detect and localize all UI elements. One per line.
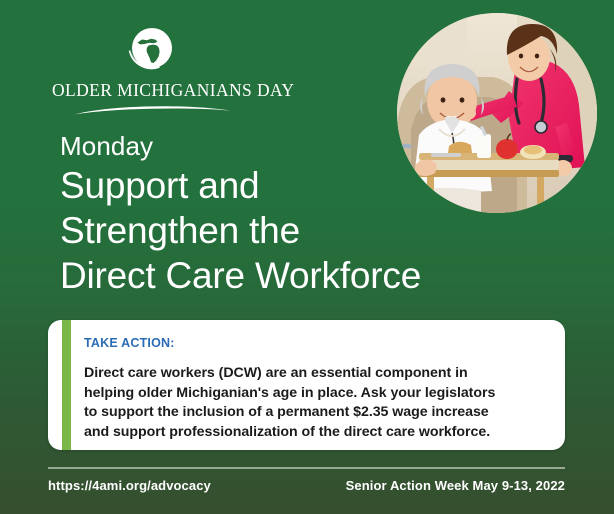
take-action-card: TAKE ACTION: Direct care workers (DCW) a… [48, 320, 565, 450]
footer-divider [48, 467, 565, 469]
michigan-globe-icon [124, 22, 180, 78]
headline-block: Monday Support and Strengthen the Direct… [60, 132, 500, 298]
event-dates: Senior Action Week May 9-13, 2022 [346, 478, 565, 493]
logo-wordmark: OLDER MICHIGANIANS DAY [52, 82, 252, 100]
poster-canvas: OLDER MICHIGANIANS DAY [0, 0, 614, 514]
logo-block: OLDER MICHIGANIANS DAY [52, 22, 252, 116]
advocacy-url-link[interactable]: https://4ami.org/advocacy [48, 478, 211, 493]
take-action-label: TAKE ACTION: [84, 336, 551, 350]
day-kicker: Monday [60, 132, 500, 161]
card-accent-bar [62, 320, 71, 450]
card-body: TAKE ACTION: Direct care workers (DCW) a… [84, 336, 551, 442]
page-title: Support and Strengthen the Direct Care W… [60, 163, 500, 298]
swoosh-underline-icon [72, 102, 232, 116]
take-action-text: Direct care workers (DCW) are an essenti… [84, 364, 551, 442]
